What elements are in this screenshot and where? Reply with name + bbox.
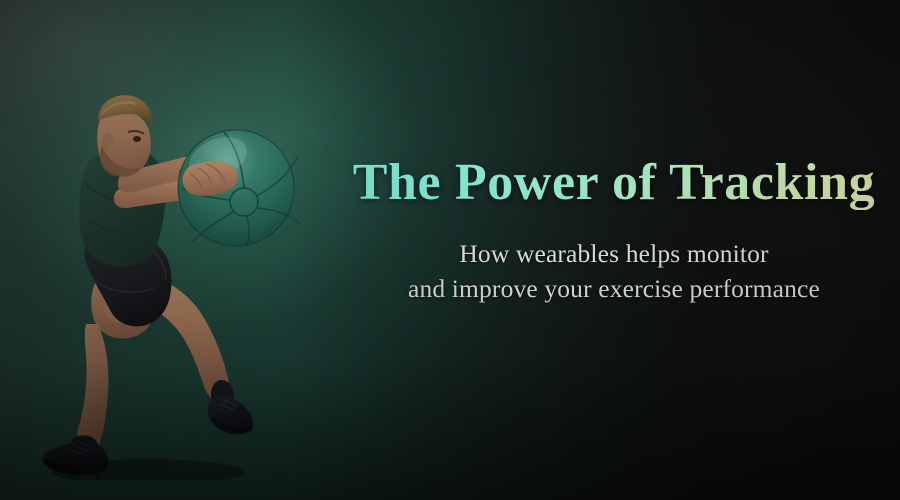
background-vignette xyxy=(0,0,900,500)
fitness-promo-banner: The Power of Tracking How wearables help… xyxy=(0,0,900,500)
